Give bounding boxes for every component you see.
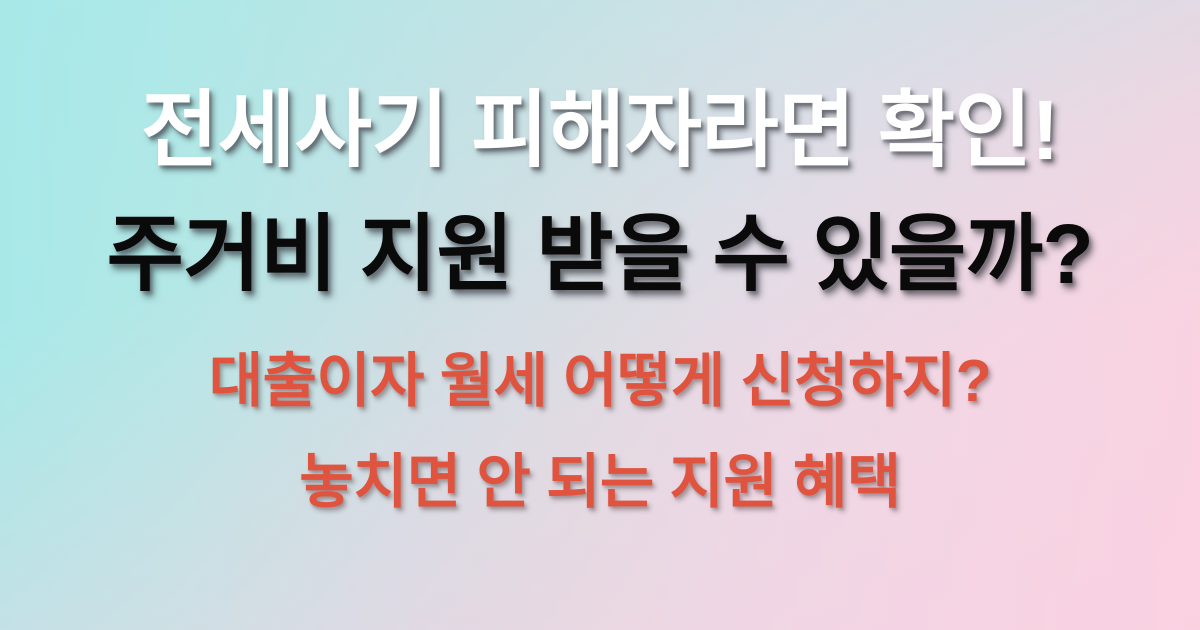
headline-line-1: 전세사기 피해자라면 확인! bbox=[0, 88, 1200, 172]
promo-card: 전세사기 피해자라면 확인! 주거비 지원 받을 수 있을까? 대출이자 월세 … bbox=[0, 0, 1200, 630]
subhead-line-1: 대출이자 월세 어떻게 신청하지? bbox=[0, 352, 1200, 411]
headline-line-2: 주거비 지원 받을 수 있을까? bbox=[0, 212, 1200, 296]
subhead-line-2: 놓치면 안 되는 지원 혜택 bbox=[0, 453, 1200, 512]
headline-block: 전세사기 피해자라면 확인! 주거비 지원 받을 수 있을까? 대출이자 월세 … bbox=[0, 0, 1200, 512]
